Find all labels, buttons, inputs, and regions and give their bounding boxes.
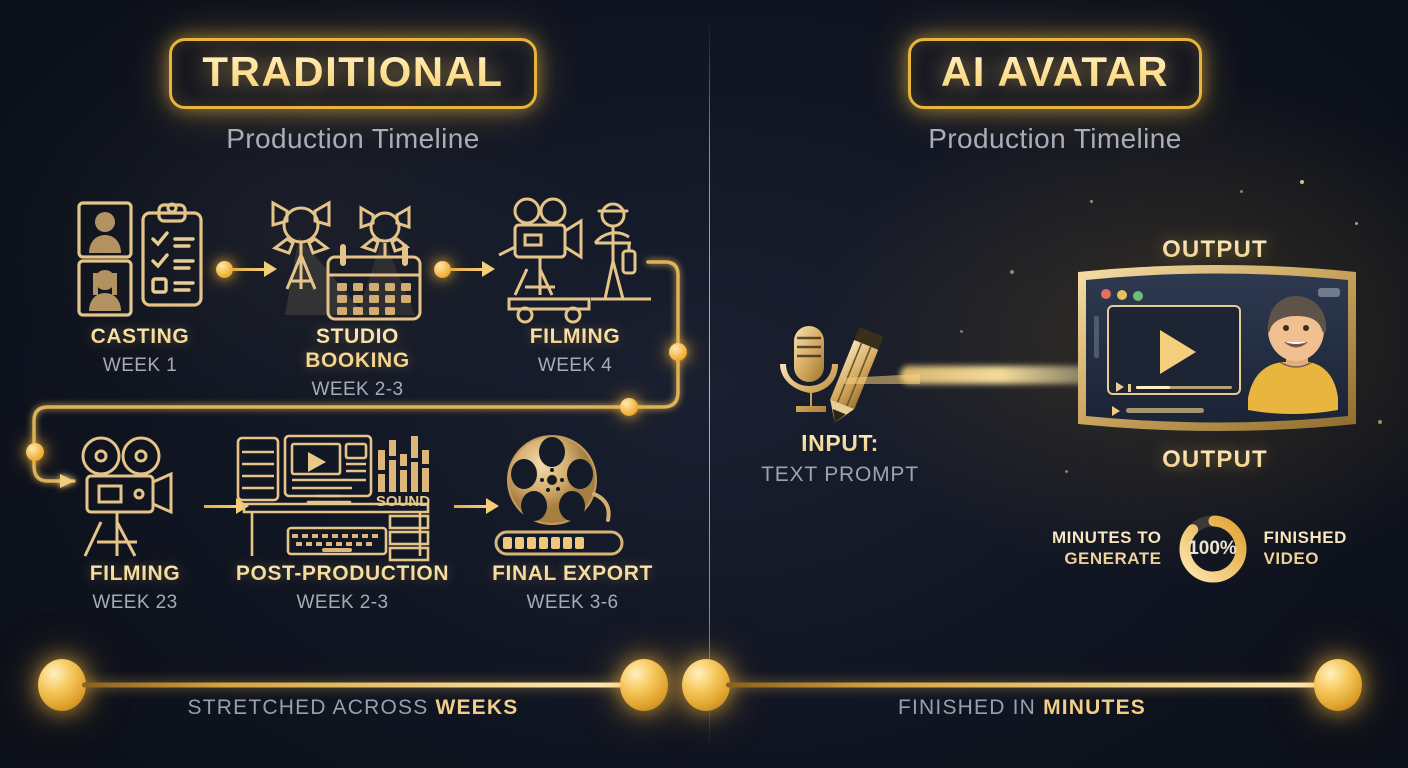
sound-label: SOUND	[376, 493, 430, 510]
sparkle-icon	[1010, 270, 1014, 274]
film-camera-tripod-icon	[55, 432, 215, 562]
step-title: FILMING	[495, 325, 655, 349]
sparkle-icon	[1355, 222, 1358, 225]
sparkle-icon	[1240, 190, 1243, 193]
progress-right-label: FINISHED VIDEO	[1264, 528, 1347, 569]
light-beam	[900, 366, 1100, 384]
casting-portraits-clipboard-icon	[55, 195, 225, 325]
infographic-canvas: TRADITIONAL Production Timeline AI AVATA…	[0, 0, 1408, 768]
arrow-shaft	[450, 268, 484, 271]
step-duration: WEEK 2-3	[230, 592, 455, 614]
ai-summary-label: FINISHED IN MINUTES	[682, 696, 1362, 720]
studio-lights-calendar-icon	[265, 195, 450, 325]
film-reel-progress-icon	[490, 432, 655, 562]
step-post-production: SOUND POST-PRODUCTION WEEK 2-3	[230, 432, 455, 614]
progress-ring: 100%	[1176, 512, 1250, 586]
sparkle-icon	[1090, 200, 1093, 203]
summary-prefix: FINISHED IN	[898, 696, 1043, 719]
summary-highlight: MINUTES	[1043, 696, 1146, 719]
sparkle-icon	[960, 330, 963, 333]
traditional-badge: TRADITIONAL	[169, 38, 536, 109]
right-panel-header: AI AVATAR Production Timeline	[830, 38, 1280, 155]
edit-desk-monitor-sound-icon: SOUND	[230, 432, 455, 562]
arrow-shaft	[232, 268, 266, 271]
step-title: CASTING	[55, 325, 225, 349]
sparkle-icon	[1065, 470, 1068, 473]
input-value: TEXT PROMPT	[740, 463, 940, 487]
camera-dolly-crew-icon	[495, 195, 655, 325]
ai-avatar-badge-label: AI AVATAR	[941, 50, 1169, 94]
output-video-screen	[1072, 258, 1362, 438]
step-title: FINAL EXPORT	[490, 562, 655, 586]
traditional-summary-label: STRETCHED ACROSS WEEKS	[38, 696, 668, 720]
left-panel-header: TRADITIONAL Production Timeline	[128, 38, 578, 155]
input-label: INPUT:	[740, 430, 940, 457]
connector-node	[669, 343, 687, 361]
step-duration: WEEK 3-6	[490, 592, 655, 614]
output-label-bottom: OUTPUT	[1075, 446, 1355, 474]
progress-left-label: MINUTES TO GENERATE	[1052, 528, 1162, 569]
left-subtitle: Production Timeline	[128, 123, 578, 155]
step-title: POST-PRODUCTION	[230, 562, 455, 586]
generation-progress: MINUTES TO GENERATE 100% FINISHED VIDEO	[1052, 512, 1347, 586]
step-duration: WEEK 1	[55, 355, 225, 377]
step-duration: WEEK 23	[55, 592, 215, 614]
step-title: STUDIO BOOKING	[265, 325, 450, 373]
connector-node	[620, 398, 638, 416]
step-final-export: FINAL EXPORT WEEK 3-6	[490, 432, 655, 614]
arrow-studio-to-filming	[434, 258, 495, 280]
ai-avatar-badge: AI AVATAR	[908, 38, 1202, 109]
bar-rod	[82, 683, 652, 688]
arrow-shaft	[454, 505, 488, 508]
step-duration: WEEK 4	[495, 355, 655, 377]
sparkle-icon	[1378, 420, 1382, 424]
step-casting: CASTING WEEK 1	[55, 195, 225, 377]
connector-node	[26, 443, 44, 461]
progress-percent: 100%	[1176, 512, 1250, 586]
arrow-head-icon	[482, 261, 495, 277]
summary-highlight: WEEKS	[435, 696, 518, 719]
arrow-dot-icon	[216, 261, 233, 278]
traditional-summary-bar: STRETCHED ACROSS WEEKS	[38, 640, 668, 730]
step-title: FILMING	[55, 562, 215, 586]
sparkle-icon	[1300, 180, 1304, 184]
step-filming-1: FILMING WEEK 4	[495, 195, 655, 377]
traditional-badge-label: TRADITIONAL	[202, 50, 503, 94]
summary-prefix: STRETCHED ACROSS	[188, 696, 436, 719]
input-block: INPUT: TEXT PROMPT	[740, 318, 940, 487]
step-studio-booking: STUDIO BOOKING WEEK 2-3	[265, 195, 450, 401]
right-subtitle: Production Timeline	[830, 123, 1280, 155]
step-filming-2: FILMING WEEK 23	[55, 432, 215, 614]
arrow-dot-icon	[434, 261, 451, 278]
step-duration: WEEK 2-3	[265, 379, 450, 401]
bar-rod	[726, 683, 1346, 688]
ai-summary-bar: FINISHED IN MINUTES	[682, 640, 1362, 730]
